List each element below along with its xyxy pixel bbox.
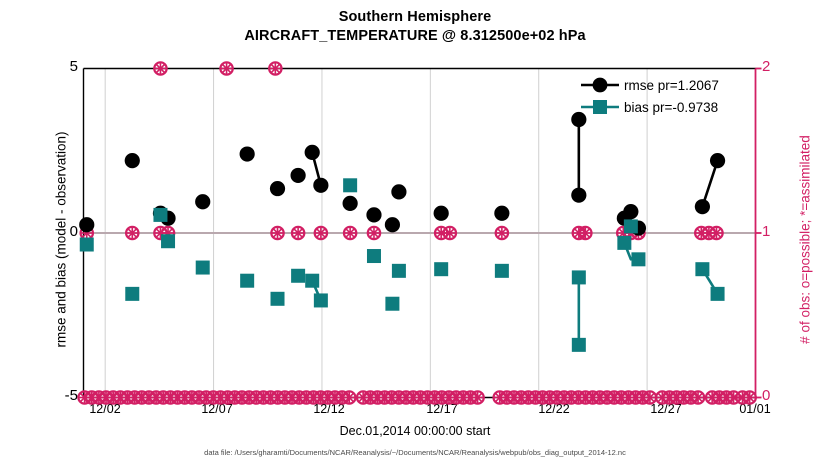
data-point-bias (161, 234, 175, 248)
obs-marker-icon (344, 227, 356, 239)
data-point-rmse (125, 153, 140, 168)
obs-marker-icon (644, 391, 656, 403)
data-point-bias (631, 252, 645, 266)
data-point-rmse (305, 145, 320, 160)
data-point-bias (305, 274, 319, 288)
data-point-bias (343, 178, 357, 192)
legend-label-rmse: rmse pr=1.2067 (622, 78, 719, 93)
data-point-rmse (385, 217, 400, 232)
obs-marker-icon (220, 62, 232, 74)
data-point-rmse (571, 188, 586, 203)
obs-marker-icon (315, 227, 327, 239)
data-point-bias (392, 264, 406, 278)
legend-marker-square-icon (578, 96, 622, 118)
legend-label-bias: bias pr=-0.9738 (622, 100, 718, 115)
data-point-bias (291, 269, 305, 283)
data-point-bias (314, 293, 328, 307)
legend-item-bias[interactable]: bias pr=-0.9738 (578, 96, 744, 118)
data-point-rmse (695, 199, 710, 214)
data-point-bias (695, 262, 709, 276)
figure-canvas: Southern Hemisphere AIRCRAFT_TEMPERATURE… (0, 0, 830, 470)
data-point-rmse (623, 204, 638, 219)
data-point-bias (196, 261, 210, 275)
obs-marker-icon (471, 391, 483, 403)
data-point-bias (271, 292, 285, 306)
data-point-rmse (343, 196, 358, 211)
data-point-rmse (434, 206, 449, 221)
data-point-bias (125, 287, 139, 301)
legend-marker-circle-icon (578, 74, 622, 96)
obs-marker-icon (692, 391, 704, 403)
data-point-rmse (494, 206, 509, 221)
data-point-bias (385, 297, 399, 311)
data-point-bias (434, 262, 448, 276)
obs-marker-icon (368, 227, 380, 239)
data-point-rmse (240, 146, 255, 161)
data-point-bias (711, 287, 725, 301)
data-point-rmse (270, 181, 285, 196)
data-point-rmse (79, 217, 94, 232)
obs-marker-icon (710, 227, 722, 239)
obs-marker-icon (269, 62, 281, 74)
obs-marker-icon (496, 227, 508, 239)
data-point-bias (495, 264, 509, 278)
obs-marker-icon (444, 227, 456, 239)
obs-marker-icon (343, 391, 355, 403)
data-point-rmse (391, 184, 406, 199)
plot-area (0, 0, 830, 470)
data-point-rmse (710, 153, 725, 168)
data-point-bias (572, 338, 586, 352)
data-point-bias (80, 238, 94, 252)
data-point-rmse (195, 194, 210, 209)
data-point-rmse (366, 207, 381, 222)
obs-marker-icon (579, 227, 591, 239)
obs-marker-icon (292, 227, 304, 239)
data-point-bias (240, 274, 254, 288)
chart-legend: rmse pr=1.2067 bias pr=-0.9738 (578, 74, 744, 118)
legend-item-rmse[interactable]: rmse pr=1.2067 (578, 74, 744, 96)
data-point-bias (624, 219, 638, 233)
data-point-bias (367, 249, 381, 263)
data-point-rmse (291, 168, 306, 183)
data-point-bias (153, 208, 167, 222)
data-point-rmse (313, 178, 328, 193)
data-point-bias (617, 236, 631, 250)
obs-marker-icon (271, 227, 283, 239)
obs-marker-icon (154, 62, 166, 74)
obs-marker-icon (126, 227, 138, 239)
data-point-bias (572, 270, 586, 284)
obs-marker-icon (743, 391, 755, 403)
